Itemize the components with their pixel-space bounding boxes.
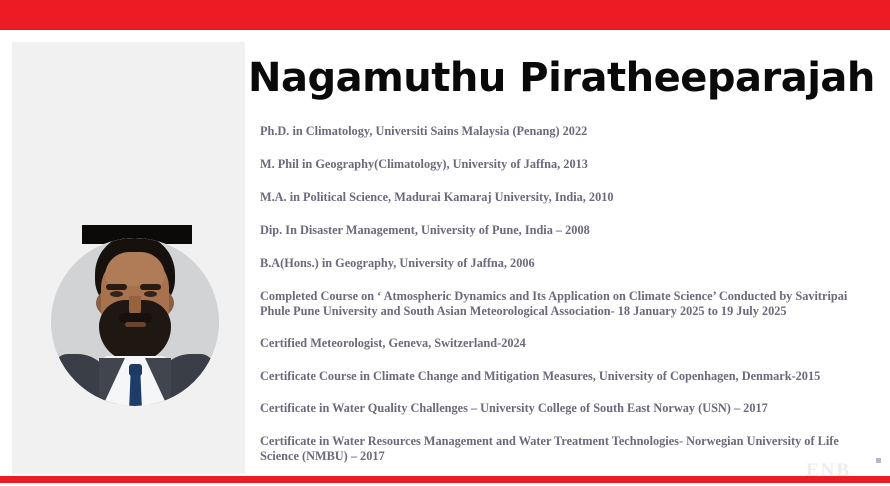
corner-marker-icon	[876, 458, 881, 463]
portrait-eyebrow-right	[140, 284, 161, 290]
photo-panel	[12, 42, 245, 474]
list-item: B.A(Hons.) in Geography, University of J…	[260, 256, 870, 271]
avatar	[51, 238, 219, 406]
content-column: Nagamuthu Piratheeparajah Ph.D. in Clima…	[248, 42, 886, 476]
page-title: Nagamuthu Piratheeparajah	[248, 54, 886, 102]
list-item: M.A. in Political Science, Madurai Kamar…	[260, 190, 870, 205]
list-item: Certified Meteorologist, Geneva, Switzer…	[260, 336, 870, 351]
portrait-eyebrow-left	[106, 284, 127, 290]
slide-canvas: Nagamuthu Piratheeparajah Ph.D. in Clima…	[0, 0, 890, 486]
portrait-lapel-right	[145, 358, 171, 406]
watermark: ENB	[806, 460, 851, 482]
list-item: Certificate in Water Quality Challenges …	[260, 401, 870, 416]
portrait-tie	[129, 374, 142, 406]
list-item: M. Phil in Geography(Climatology), Unive…	[260, 157, 870, 172]
portrait-eye-right	[144, 291, 157, 297]
avatar-image	[51, 238, 219, 406]
list-item: Ph.D. in Climatology, Universiti Sains M…	[260, 124, 870, 139]
portrait-eye-left	[110, 291, 123, 297]
credentials-list: Ph.D. in Climatology, Universiti Sains M…	[260, 124, 870, 464]
list-item: Certificate Course in Climate Change and…	[260, 369, 870, 384]
list-item: Completed Course on ‘ Atmospheric Dynami…	[260, 289, 870, 319]
list-item: Certificate in Water Resources Managemen…	[260, 434, 870, 464]
portrait-lapel-left	[99, 358, 125, 406]
list-item: Dip. In Disaster Management, University …	[260, 223, 870, 238]
portrait-mouth	[125, 322, 146, 327]
top-accent-bar	[0, 0, 890, 30]
bottom-accent-bar	[0, 476, 890, 483]
portrait-forehead	[105, 252, 165, 286]
